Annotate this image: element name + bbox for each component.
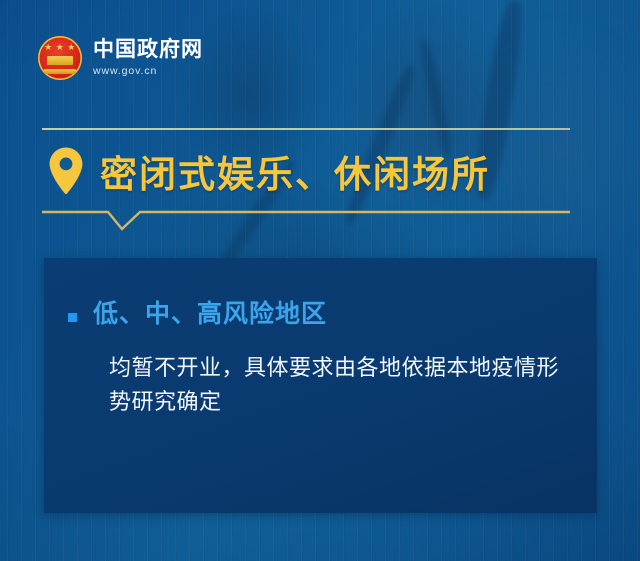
title-row: 密闭式娱乐、休闲场所: [42, 130, 570, 210]
site-name-block: 中国政府网 www.gov.cn: [93, 39, 203, 77]
emblem-base: [44, 69, 76, 74]
card-heading-row: 低、中、高风险地区: [68, 300, 563, 329]
page-title: 密闭式娱乐、休闲场所: [100, 144, 490, 198]
infographic-poster: ★ ★ ★ 中国政府网 www.gov.cn 密闭式娱乐、休闲场所 低、中、: [0, 0, 640, 561]
title-rule-bottom-with-notch: [42, 210, 570, 232]
site-name: 中国政府网: [93, 39, 203, 60]
content-card: 低、中、高风险地区 均暂不开业，具体要求由各地依据本地疫情形势研究确定: [44, 258, 597, 513]
emblem-stars: ★ ★ ★: [38, 43, 82, 52]
square-bullet-icon: [68, 313, 77, 322]
site-branding: ★ ★ ★ 中国政府网 www.gov.cn: [38, 36, 203, 80]
title-rule-top: [42, 128, 570, 130]
card-body-text: 均暂不开业，具体要求由各地依据本地疫情形势研究确定: [109, 351, 563, 419]
title-block: 密闭式娱乐、休闲场所: [42, 128, 570, 232]
emblem-gate: [47, 56, 73, 65]
card-heading: 低、中、高风险地区: [93, 300, 327, 329]
site-url: www.gov.cn: [93, 66, 203, 77]
content-card-inner: 低、中、高风险地区 均暂不开业，具体要求由各地依据本地疫情形势研究确定: [44, 258, 597, 419]
location-pin-icon: [48, 147, 84, 195]
china-national-emblem-icon: ★ ★ ★: [38, 36, 82, 80]
